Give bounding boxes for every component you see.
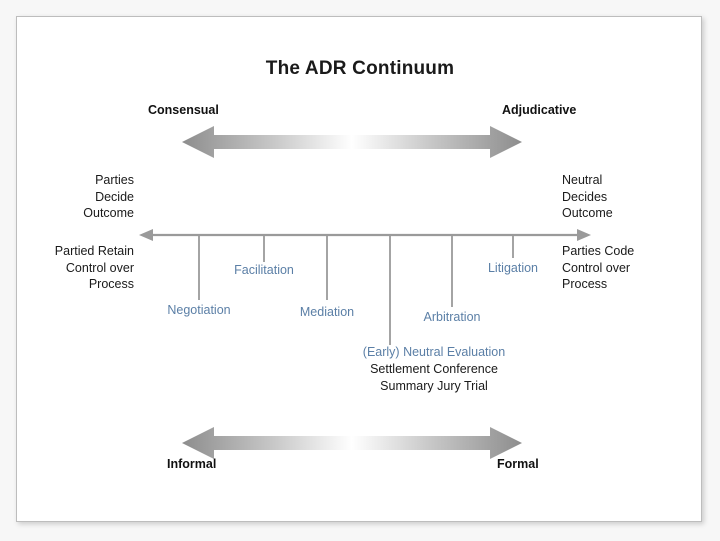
consensual-label: Consensual [148, 103, 219, 117]
right-outcome-text: Neutral Decides Outcome [562, 172, 613, 222]
right-control-line-3: Process [562, 276, 634, 293]
left-outcome-line-2: Decide [83, 189, 134, 206]
left-control-line-1: Partied Retain [55, 243, 134, 260]
formal-label: Formal [497, 457, 539, 471]
page-title: The ADR Continuum [0, 58, 720, 80]
process-label-arbitration: Arbitration [424, 310, 481, 324]
process-label-negotiation: Negotiation [167, 303, 230, 317]
process-label-settlement-conference: Settlement Conference [363, 361, 505, 378]
left-outcome-text: Parties Decide Outcome [83, 172, 134, 222]
right-control-text: Parties Code Control over Process [562, 243, 634, 293]
diagram-page: The ADR Continuum Consensual Adjudicativ… [0, 0, 720, 541]
informal-label: Informal [167, 457, 216, 471]
process-label-summary-jury-trial: Summary Jury Trial [363, 378, 505, 395]
left-control-line-2: Control over [55, 260, 134, 277]
process-label-litigation: Litigation [488, 261, 538, 275]
left-control-text: Partied Retain Control over Process [55, 243, 134, 293]
process-label-facilitation: Facilitation [234, 263, 294, 277]
left-outcome-line-1: Parties [83, 172, 134, 189]
process-label-mediation: Mediation [300, 305, 354, 319]
right-outcome-line-3: Outcome [562, 205, 613, 222]
adjudicative-label: Adjudicative [502, 103, 576, 117]
right-outcome-line-2: Decides [562, 189, 613, 206]
right-control-line-2: Control over [562, 260, 634, 277]
left-control-line-3: Process [55, 276, 134, 293]
right-outcome-line-1: Neutral [562, 172, 613, 189]
process-label-group-center: (Early) Neutral Evaluation Settlement Co… [363, 344, 505, 395]
left-outcome-line-3: Outcome [83, 205, 134, 222]
double-headed-arrow-icon [180, 122, 524, 162]
double-headed-arrow-icon [180, 423, 524, 463]
right-control-line-1: Parties Code [562, 243, 634, 260]
process-label-neutral-evaluation: (Early) Neutral Evaluation [363, 344, 505, 361]
